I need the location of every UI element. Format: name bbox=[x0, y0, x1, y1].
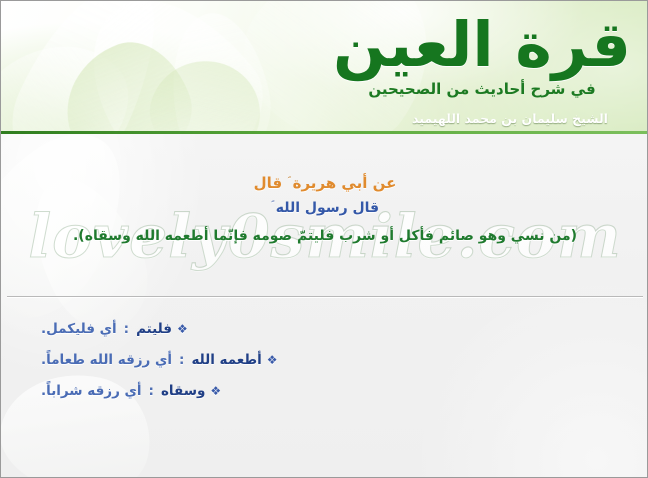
hadith-card: قرة العين في شرح أحاديث من الصحيحين الشي… bbox=[0, 0, 648, 478]
site-logo: قرة العين في شرح أحاديث من الصحيحين bbox=[333, 5, 631, 98]
hadith-narrator-verb: قال bbox=[254, 174, 282, 192]
hadith-body-text: (من نسي وهو صائم فأكل أو شرب فليتمّ صومه… bbox=[1, 225, 648, 247]
note-separator: : bbox=[147, 381, 156, 402]
content-area: lovely0smile.com عن أبي هريرة ؐ قال قال … bbox=[1, 134, 648, 477]
diamond-bullet-icon: ❖ bbox=[210, 385, 221, 397]
logo-title: قرة العين bbox=[333, 5, 631, 84]
hadith-said-prefix: قال رسول الله bbox=[276, 200, 379, 216]
list-item: ❖ فليتم : أي فليكمل. bbox=[41, 314, 631, 345]
note-term: فليتم bbox=[136, 319, 172, 340]
hadith-attribution-line: قال رسول الله ؐ bbox=[1, 198, 648, 219]
hadith-block: عن أبي هريرة ؐ قال قال رسول الله ؐ (من ن… bbox=[1, 172, 648, 247]
hadith-narrator-name: عن أبي هريرة bbox=[293, 174, 397, 192]
author-line: الشيخ سليمان بن محمد اللهيميد bbox=[1, 111, 648, 126]
author-name: الشيخ سليمان بن محمد اللهيميد bbox=[412, 111, 608, 126]
explanation-list: ❖ فليتم : أي فليكمل. ❖ أطعمه الله : أي ر… bbox=[41, 314, 631, 407]
diamond-bullet-icon: ❖ bbox=[267, 354, 278, 366]
logo-subtitle: في شرح أحاديث من الصحيحين bbox=[333, 80, 631, 98]
diamond-bullet-icon: ❖ bbox=[177, 323, 188, 335]
note-separator: : bbox=[177, 350, 186, 371]
hadith-narrator-line: عن أبي هريرة ؐ قال bbox=[1, 172, 648, 195]
header-banner: قرة العين في شرح أحاديث من الصحيحين الشي… bbox=[1, 1, 648, 134]
list-item: ❖ وسقاه : أي رزقه شراباً. bbox=[41, 376, 631, 407]
note-separator: : bbox=[122, 319, 131, 340]
note-definition: أي رزقه الله طعاماً. bbox=[41, 350, 172, 371]
note-definition: أي رزقه شراباً. bbox=[41, 381, 142, 402]
note-term: أطعمه الله bbox=[191, 350, 261, 371]
note-definition: أي فليكمل. bbox=[41, 319, 117, 340]
list-item: ❖ أطعمه الله : أي رزقه الله طعاماً. bbox=[41, 345, 631, 376]
note-term: وسقاه bbox=[161, 381, 205, 402]
section-divider bbox=[7, 296, 643, 297]
